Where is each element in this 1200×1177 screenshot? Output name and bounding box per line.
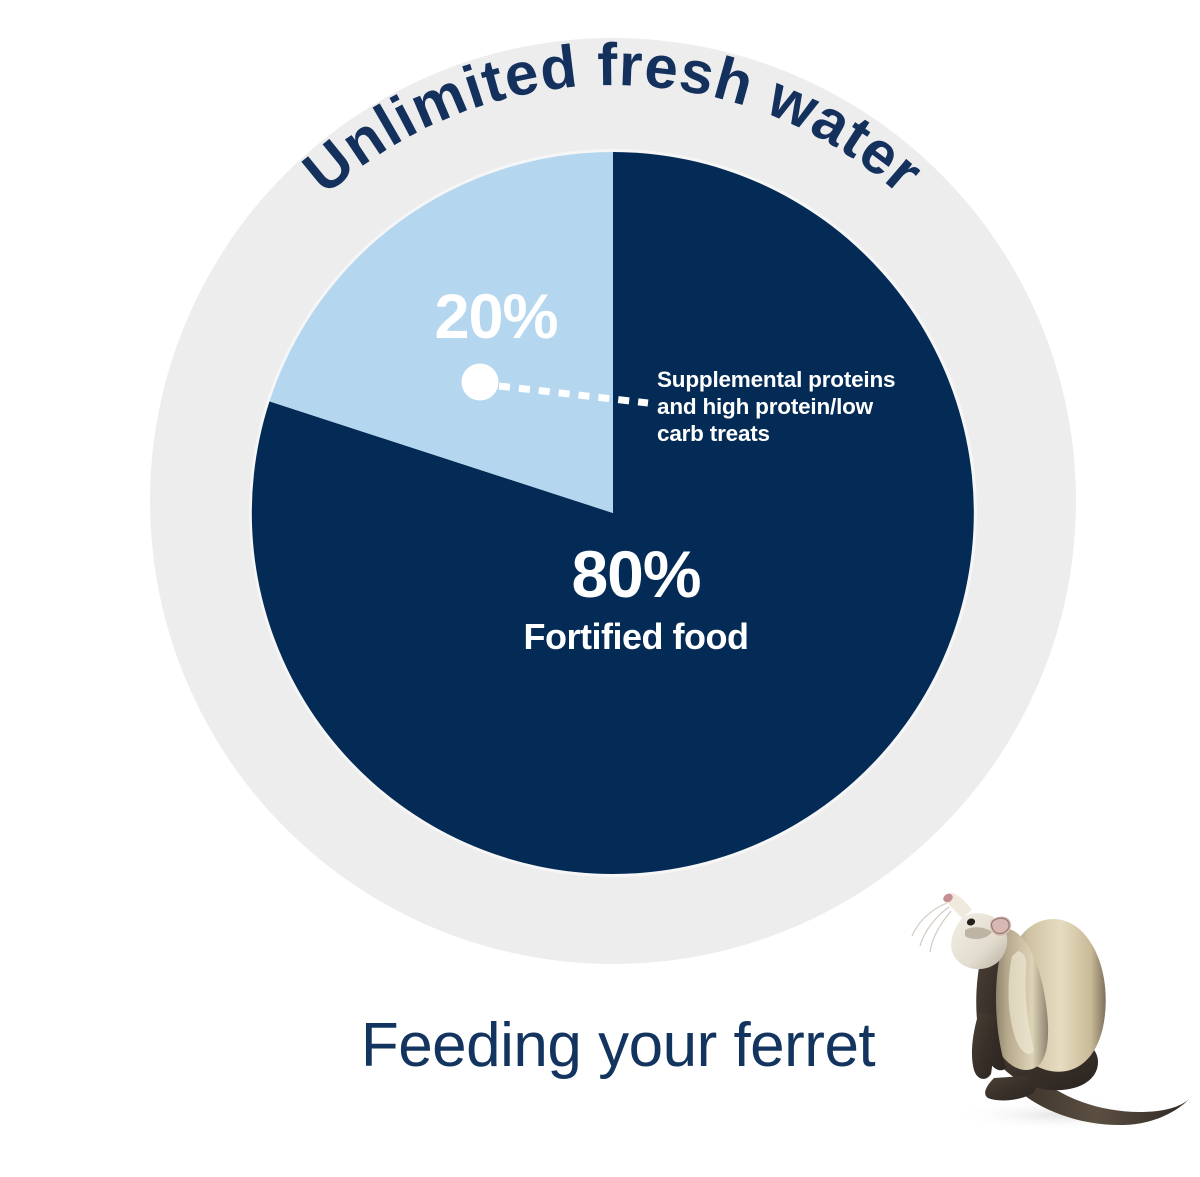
slice-large-percent-label: 80% [571, 537, 700, 611]
ferret-photo [912, 892, 1192, 1131]
callout-line-1: Supplemental proteins [657, 367, 895, 392]
page-caption: Feeding your ferret [361, 1011, 876, 1080]
infographic-svg: Unlimited fresh water 20% Supplemental p… [0, 0, 1200, 1177]
callout-dot [462, 364, 499, 401]
callout-line-3: carb treats [657, 421, 770, 446]
slice-large-name-label: Fortified food [524, 616, 749, 657]
infographic-canvas: Unlimited fresh water 20% Supplemental p… [0, 0, 1200, 1177]
pie-chart [249, 149, 977, 877]
ferret-whiskers [912, 903, 951, 952]
ferret-front-leg [972, 1012, 996, 1079]
slice-small-percent-label: 20% [434, 282, 557, 352]
callout-line-2: and high protein/low [657, 394, 874, 419]
